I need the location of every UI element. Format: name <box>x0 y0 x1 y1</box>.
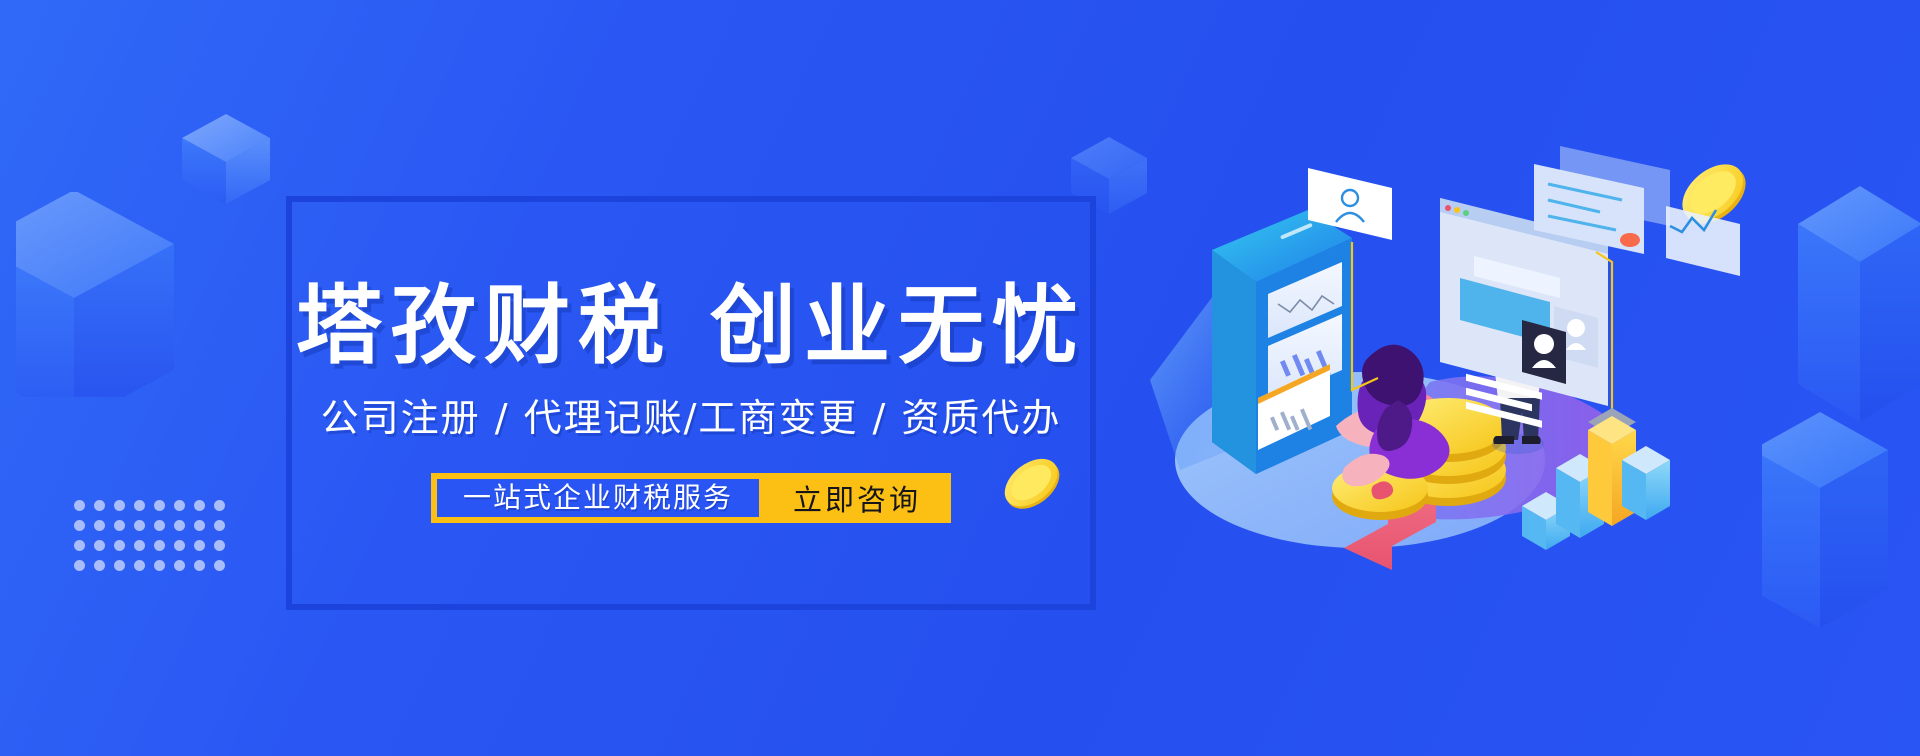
dot-grid-decoration <box>74 500 225 571</box>
cube-left-large-icon <box>16 192 176 397</box>
services-subtitle: 公司注册 / 代理记账/工商变更 / 资质代办 <box>321 399 1062 437</box>
content-panel: 塔孜财税 创业无忧 公司注册 / 代理记账/工商变更 / 资质代办 一站式企业财… <box>292 202 1090 604</box>
consult-now-button[interactable]: 立即咨询 <box>759 477 951 519</box>
cta-tagline: 一站式企业财税服务 <box>437 479 759 517</box>
cta-bar[interactable]: 一站式企业财税服务 立即咨询 <box>431 473 951 523</box>
promo-banner: 塔孜财税 创业无忧 公司注册 / 代理记账/工商变更 / 资质代办 一站式企业财… <box>0 0 1920 756</box>
content-frame: 塔孜财税 创业无忧 公司注册 / 代理记账/工商变更 / 资质代办 一站式企业财… <box>286 196 1096 610</box>
prism-right-tall-icon <box>1798 172 1920 432</box>
line-chart-card <box>1666 206 1740 276</box>
prism-right-low-icon <box>1762 396 1920 636</box>
cube-top-left-small-icon <box>176 108 276 208</box>
page-title: 塔孜财税 创业无忧 <box>296 283 1086 369</box>
isometric-finance-illustration <box>1130 130 1690 590</box>
